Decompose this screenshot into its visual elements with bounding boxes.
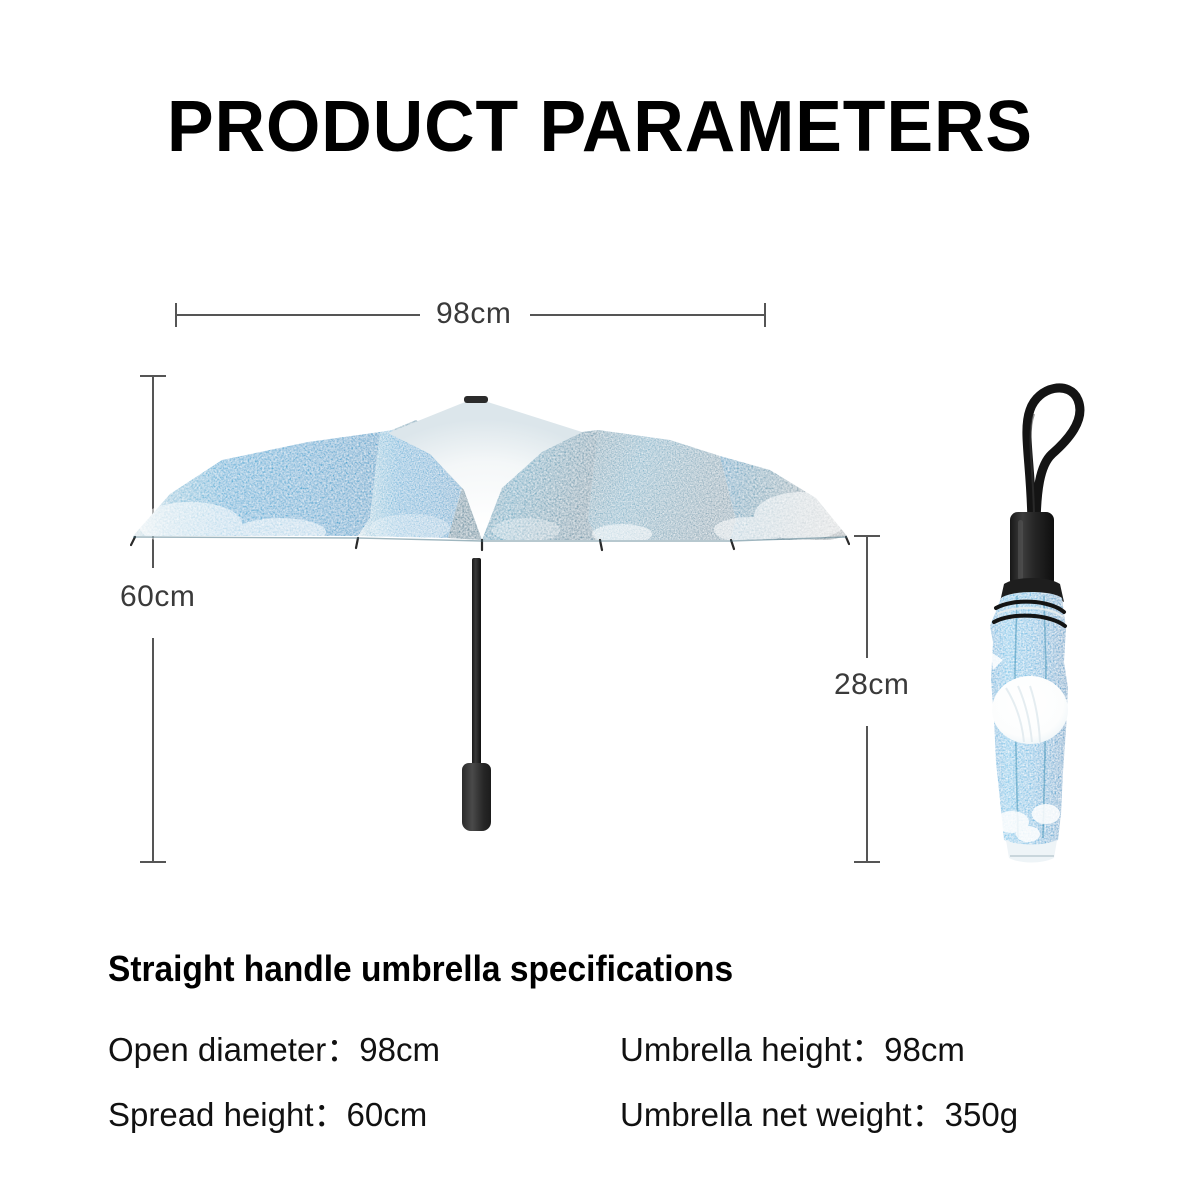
dim-cap-bottom: [854, 861, 880, 863]
dim-cap-bottom: [140, 861, 166, 863]
spec-label: Umbrella height：: [620, 1031, 884, 1068]
umbrella-shaft: [472, 558, 481, 773]
spec-label: Open diameter：: [108, 1031, 359, 1068]
dim-cap-right: [764, 303, 766, 327]
product-parameters-page: PRODUCT PARAMETERS 98cm 60cm 28cm: [0, 0, 1200, 1200]
folded-handle: [1010, 512, 1054, 588]
dim-line-upper-segment: [866, 536, 868, 658]
dim-line-left-segment: [175, 314, 420, 316]
spec-row: Spread height：60cm: [108, 1095, 427, 1135]
spec-label: Spread height：: [108, 1096, 347, 1133]
umbrella-handle-grip: [462, 763, 491, 831]
canopy-svg: [130, 388, 850, 588]
spec-value: 350g: [945, 1096, 1018, 1133]
umbrella-canopy: [130, 388, 850, 588]
folded-umbrella-svg: [960, 370, 1090, 900]
spec-row: Umbrella net weight：350g: [620, 1095, 1018, 1135]
spec-row: Umbrella height：98cm: [620, 1030, 965, 1070]
handle-highlight: [1018, 520, 1023, 580]
spec-value: 60cm: [347, 1096, 428, 1133]
spec-heading: Straight handle umbrella specifications: [108, 948, 733, 990]
spec-row: Open diameter：98cm: [108, 1030, 440, 1070]
umbrella-finial: [464, 396, 488, 403]
dim-line-right-segment: [530, 314, 766, 316]
spec-label: Umbrella net weight：: [620, 1096, 945, 1133]
folded-umbrella: [960, 370, 1090, 900]
spec-value: 98cm: [884, 1031, 965, 1068]
dim-line-lower-segment: [866, 726, 868, 862]
dim-label-open-width: 98cm: [430, 297, 517, 331]
open-umbrella: [130, 388, 850, 838]
canopy-panel-5: [588, 430, 736, 540]
page-title: PRODUCT PARAMETERS: [18, 88, 1182, 166]
spec-value: 98cm: [359, 1031, 440, 1068]
